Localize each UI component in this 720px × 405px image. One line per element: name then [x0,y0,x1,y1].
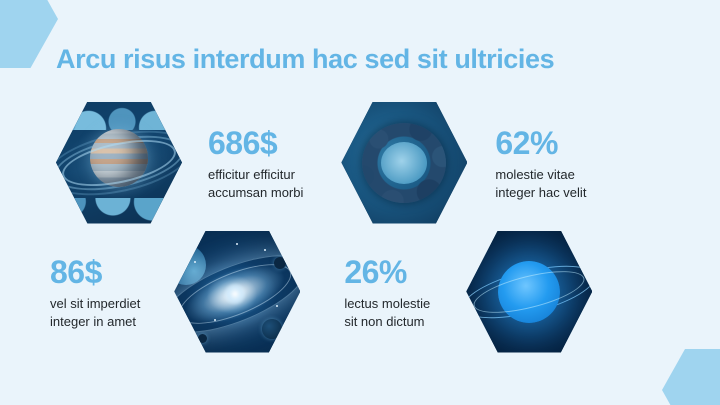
crater-hole-icon [381,142,427,184]
stat-description-3: vel sit imperdiet integer in amet [50,295,140,331]
cloud-band-top-icon [56,102,182,130]
stat-item-1: 686$ efficitur efficitur accumsan morbi [0,102,303,224]
stat-number-4: 26% [344,252,430,292]
stat-description-1: efficitur efficitur accumsan morbi [208,166,303,202]
stat-item-3: 86$ vel sit imperdiet integer in amet [0,231,300,353]
stat-text-2: 62% molestie vitae integer hac velit [495,123,586,202]
asteroid-crater-ring-image [341,102,467,224]
stat-number-2: 62% [495,123,586,163]
stat-text-3: 86$ vel sit imperdiet integer in amet [50,252,140,331]
slide-title: Arcu risus interdum hac sed sit ultricie… [56,44,554,75]
stat-item-2: 62% molestie vitae integer hac velit [303,102,586,224]
stat-number-3: 86$ [50,252,140,292]
slide-canvas: Arcu risus interdum hac sed sit ultricie… [0,0,720,405]
spiral-galaxy-image [174,231,300,353]
decorative-hexagon-top-left [0,0,58,68]
stat-description-4: lectus molestie sit non dictum [344,295,430,331]
stat-text-1: 686$ efficitur efficitur accumsan morbi [208,123,303,202]
glowing-blue-planet-image [466,231,592,353]
galaxy-core-icon [224,283,246,305]
stats-row-bottom: 86$ vel sit imperdiet integer in amet [0,225,720,358]
stat-text-4: 26% lectus molestie sit non dictum [344,252,430,331]
cloud-band-bottom-icon [56,198,182,224]
ringed-planet-clouds-image [56,102,182,224]
stat-number-1: 686$ [208,123,303,163]
stats-row-top: 686$ efficitur efficitur accumsan morbi … [0,96,720,229]
stat-item-4: 26% lectus molestie sit non dictum [300,231,592,353]
stat-description-2: molestie vitae integer hac velit [495,166,586,202]
stats-grid: 686$ efficitur efficitur accumsan morbi … [0,96,720,358]
